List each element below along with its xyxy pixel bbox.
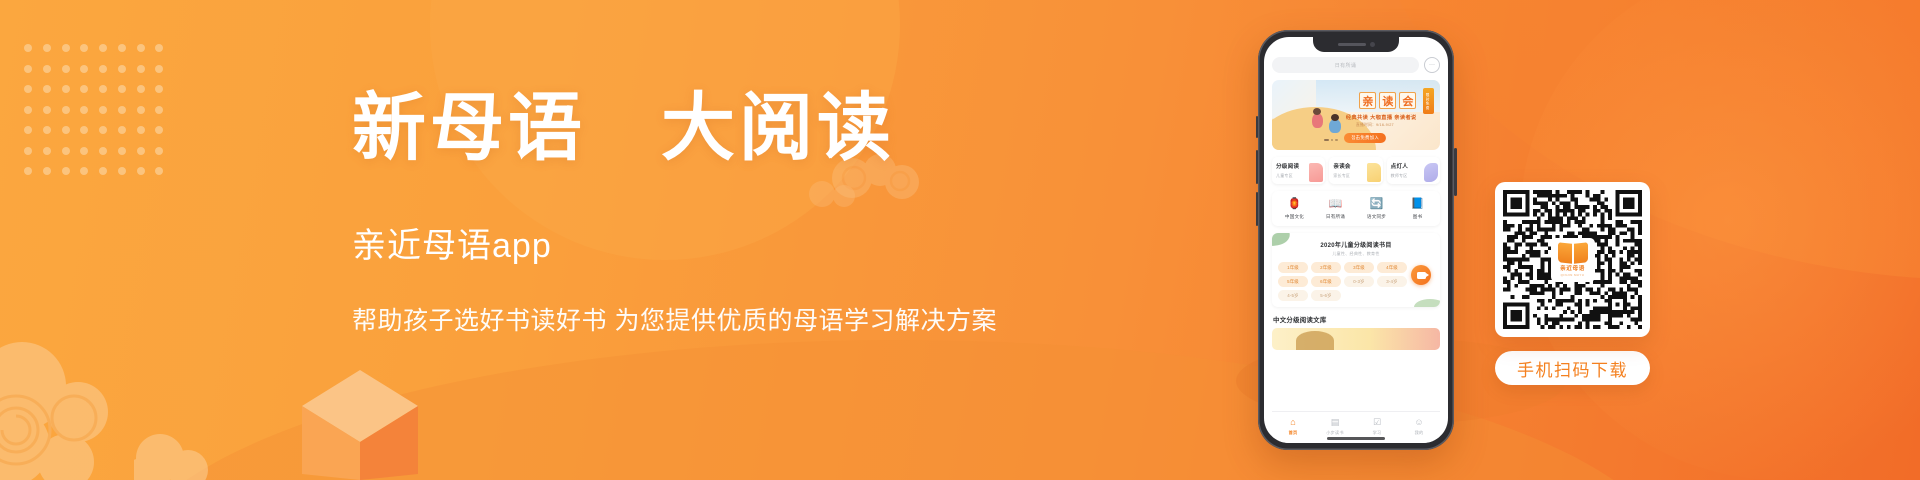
library-title: 中文分级阅读文库 [1273, 315, 1440, 324]
decor-cloud-small [134, 424, 212, 480]
decor-dot [43, 44, 51, 52]
decor-dot [137, 126, 145, 134]
decor-dot [137, 106, 145, 114]
decor-dot [62, 85, 70, 93]
decor-dot [80, 167, 88, 175]
decor-dot [118, 126, 126, 134]
decor-dot [80, 147, 88, 155]
age-chip[interactable]: 0-3岁 [1344, 276, 1374, 287]
feature-card[interactable]: 亲读会家长专区 [1329, 157, 1382, 184]
promo-char-0: 亲 [1359, 92, 1376, 109]
tab-3[interactable]: ☺我的 [1398, 417, 1440, 436]
decor-dot [24, 85, 32, 93]
decor-dot [137, 44, 145, 52]
subtitle: 亲近母语app [352, 218, 1012, 267]
decor-cube [300, 364, 420, 480]
home-indicator [1327, 437, 1385, 440]
headline-part2: 大阅读 [661, 88, 895, 170]
decor-dot [155, 106, 163, 114]
book-icon [1558, 243, 1588, 263]
grade-chip[interactable]: 1年级 [1278, 262, 1308, 273]
feature-card-row: 分级阅读儿童专区亲读会家长专区点灯人教师专区 [1272, 157, 1440, 184]
quick-link-label: 日有所诵 [1326, 214, 1345, 220]
library-banner[interactable] [1272, 328, 1440, 350]
quick-link-label: 语文同步 [1367, 214, 1386, 220]
decor-dot [155, 65, 163, 73]
booklist-title: 2020年儿童分级阅读书目 [1278, 240, 1434, 249]
message-icon[interactable]: ··· [1424, 57, 1440, 73]
decor-dot [80, 85, 88, 93]
decor-dot [62, 126, 70, 134]
decor-dot [43, 126, 51, 134]
tab-0[interactable]: ⌂首页 [1272, 417, 1314, 436]
decor-dot [62, 147, 70, 155]
feature-card-art [1367, 163, 1381, 182]
feature-card[interactable]: 分级阅读儿童专区 [1272, 157, 1325, 184]
quick-link[interactable]: 📖日有所诵 [1315, 197, 1356, 220]
qr-logo: 亲近母语 QINJIN MUYU [1551, 238, 1595, 282]
phone-screen: 日有所诵 ··· 亲 读 会 限时免费 经典共读 大咖直播 亲读者说 直播时间：… [1264, 37, 1448, 443]
decor-dot [24, 65, 32, 73]
decor-dot [62, 167, 70, 175]
decor-dot [155, 44, 163, 52]
decor-dot [137, 167, 145, 175]
decor-dot [99, 44, 107, 52]
decor-dot [155, 85, 163, 93]
tab-label: 我的 [1415, 430, 1424, 436]
tab-label: 学习 [1373, 430, 1382, 436]
promo-date: 直播时间：9/16-9/27 [1356, 123, 1394, 128]
feature-card-art [1309, 163, 1323, 182]
decor-dot [99, 167, 107, 175]
tab-label: 小步读书 [1326, 430, 1344, 436]
decor-dot [137, 85, 145, 93]
quick-link[interactable]: 🏮中国文化 [1274, 197, 1315, 220]
decor-dot [118, 167, 126, 175]
grade-chip[interactable]: 6年级 [1311, 276, 1341, 287]
banner-copy: 新母语 大阅读 亲近母语app 帮助孩子选好书读好书 为您提供优质的母语学习解决… [352, 92, 1012, 337]
decor-dot [62, 106, 70, 114]
age-chip[interactable]: 5-6岁 [1311, 290, 1341, 301]
promo-card-title: 亲 读 会 [1359, 92, 1416, 109]
qr-logo-name: 亲近母语 [1560, 264, 1585, 272]
app-search-row: 日有所诵 ··· [1272, 57, 1440, 73]
grade-chip[interactable]: 3年级 [1344, 262, 1374, 273]
tab-2[interactable]: ☑学习 [1356, 417, 1398, 436]
decor-dot [43, 106, 51, 114]
tagline: 帮助孩子选好书读好书 为您提供优质的母语学习解决方案 [352, 301, 1012, 337]
qr-block: 亲近母语 QINJIN MUYU 手机扫码下载 [1495, 182, 1650, 385]
promo-char-2: 会 [1399, 92, 1416, 109]
grade-chip[interactable]: 5年级 [1278, 276, 1308, 287]
booklist-chips: 1年级2年级3年级4年级5年级6年级0-3岁3-4岁4-5岁5-6岁 [1278, 262, 1434, 301]
age-chip[interactable]: 3-4岁 [1377, 276, 1407, 287]
decor-dot [24, 126, 32, 134]
grade-chip[interactable]: 2年级 [1311, 262, 1341, 273]
promo-join-button[interactable]: 점击免费加入 [1344, 133, 1386, 143]
tab-icon: ⌂ [1288, 417, 1299, 428]
decor-dot [118, 44, 126, 52]
decor-dot [99, 106, 107, 114]
quick-link-icon: 🔄 [1370, 197, 1384, 211]
promo-card[interactable]: 亲 读 会 限时免费 经典共读 大咖直播 亲读者说 直播时间：9/16-9/27… [1272, 80, 1440, 150]
tab-icon: ☑ [1372, 417, 1383, 428]
phone-notch [1313, 37, 1399, 52]
tab-1[interactable]: ▤小步读书 [1314, 417, 1356, 436]
decor-dot [118, 147, 126, 155]
play-icon[interactable] [1411, 265, 1431, 285]
qr-code: 亲近母语 QINJIN MUYU [1503, 190, 1642, 329]
headline-part1: 新母语 [352, 88, 586, 170]
decor-dot [155, 126, 163, 134]
decor-dot [155, 147, 163, 155]
decor-dot-grid [24, 44, 174, 188]
quick-link-label: 图书 [1413, 214, 1423, 220]
decor-dot [118, 85, 126, 93]
tab-icon: ▤ [1330, 417, 1341, 428]
quick-link-label: 中国文化 [1285, 214, 1304, 220]
decor-dot [43, 85, 51, 93]
quick-link[interactable]: 📘图书 [1397, 197, 1438, 220]
quick-link[interactable]: 🔄语文同步 [1356, 197, 1397, 220]
decor-dot [80, 106, 88, 114]
decor-dot [43, 147, 51, 155]
promo-char-1: 读 [1379, 92, 1396, 109]
decor-dot [137, 65, 145, 73]
decor-dot [80, 44, 88, 52]
decor-dot [99, 126, 107, 134]
download-button[interactable]: 手机扫码下载 [1495, 351, 1650, 385]
decor-dot [62, 44, 70, 52]
decor-dot [62, 65, 70, 73]
search-input[interactable]: 日有所诵 [1272, 57, 1419, 73]
decor-cloud-swirl [0, 334, 160, 480]
decor-dot [43, 167, 51, 175]
decor-dot [43, 65, 51, 73]
headline: 新母语 大阅读 [352, 92, 1012, 166]
tab-label: 首页 [1289, 430, 1298, 436]
decor-dot [80, 65, 88, 73]
booklist-card: 2020年儿童分级阅读书目 儿童性、经典性、教育性 1年级2年级3年级4年级5年… [1272, 233, 1440, 307]
quick-link-icon: 📖 [1329, 197, 1343, 211]
feature-card-art [1424, 163, 1438, 182]
booklist-subtitle: 儿童性、经典性、教育性 [1278, 251, 1434, 257]
decor-dot [24, 147, 32, 155]
qr-logo-en: QINJIN MUYU [1561, 273, 1585, 277]
age-chip[interactable]: 4-5岁 [1278, 290, 1308, 301]
decor-dot [137, 147, 145, 155]
tab-icon: ☺ [1414, 417, 1425, 428]
promo-ribbon: 限时免费 [1423, 88, 1434, 114]
quick-link-icon: 🏮 [1288, 197, 1302, 211]
decor-dot [24, 44, 32, 52]
quick-link-icon: 📘 [1411, 197, 1425, 211]
promo-subtitle: 经典共读 大咖直播 亲读者说 [1346, 114, 1417, 121]
promo-banner: 新母语 大阅读 亲近母语app 帮助孩子选好书读好书 为您提供优质的母语学习解决… [0, 0, 1920, 480]
promo-dots [1324, 139, 1338, 141]
decor-dot [24, 106, 32, 114]
decor-dot [24, 167, 32, 175]
decor-dot [99, 85, 107, 93]
feature-card[interactable]: 点灯人教师专区 [1387, 157, 1440, 184]
decor-dot [99, 147, 107, 155]
grade-chip[interactable]: 4年级 [1377, 262, 1407, 273]
decor-dot [155, 167, 163, 175]
phone-mockup: 日有所诵 ··· 亲 读 会 限时免费 经典共读 大咖直播 亲读者说 直播时间：… [1258, 30, 1454, 450]
decor-dot [118, 106, 126, 114]
decor-dot [118, 65, 126, 73]
qr-card: 亲近母语 QINJIN MUYU [1495, 182, 1650, 337]
decor-dot [80, 126, 88, 134]
decor-dot [99, 65, 107, 73]
quick-link-row: 🏮中国文化📖日有所诵🔄语文同步📘图书 [1272, 191, 1440, 226]
